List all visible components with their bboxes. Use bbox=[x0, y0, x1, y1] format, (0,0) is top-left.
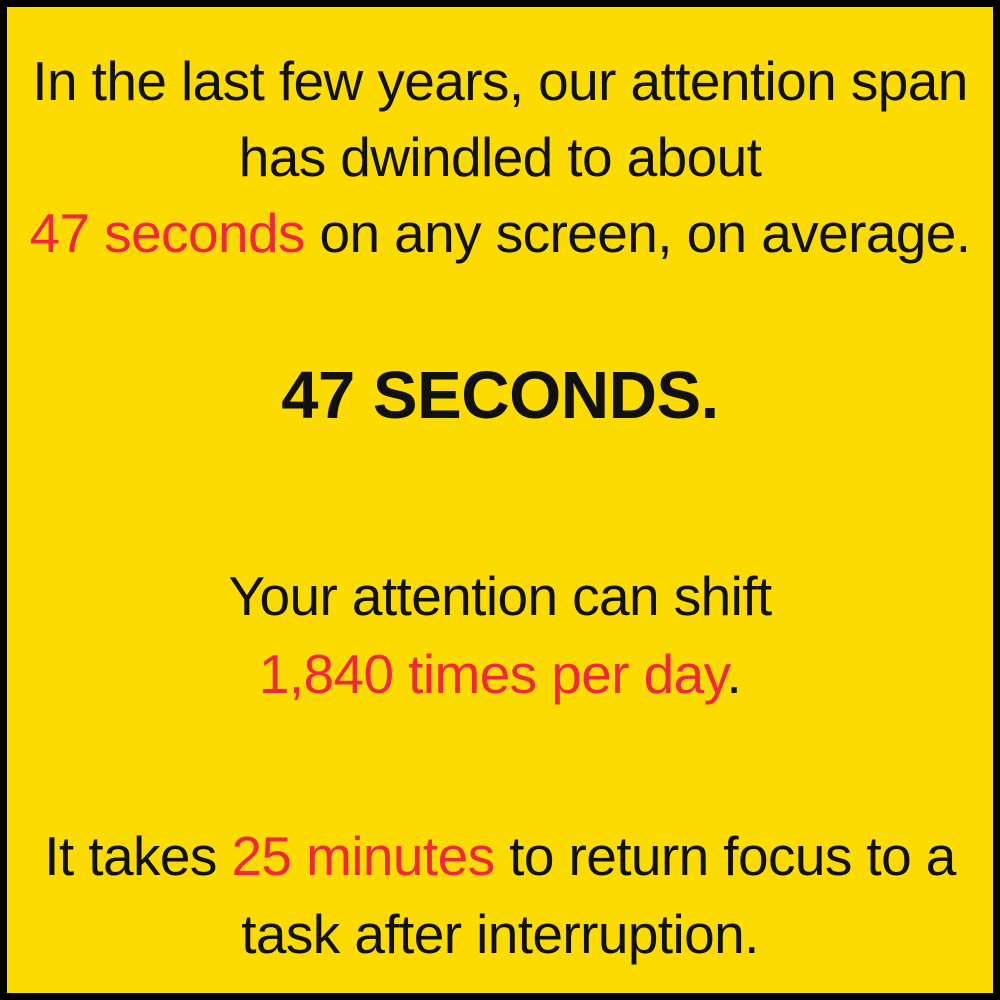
shift-line-2: 1,840 times per day. bbox=[23, 635, 977, 713]
intro-line-2: has dwindled to about bbox=[23, 119, 977, 195]
headline-text: 47 SECONDS. bbox=[23, 359, 977, 433]
intro-line-1: In the last few years, our attention spa… bbox=[23, 43, 977, 119]
refocus-line-2: task after interruption. bbox=[23, 895, 977, 973]
attention-shift-statistic: Your attention can shift 1,840 times per… bbox=[7, 557, 993, 713]
shift-highlight-1840-times: 1,840 times per day bbox=[259, 643, 727, 705]
refocus-line-1-pre: It takes bbox=[44, 825, 231, 887]
intro-highlight-47-seconds: 47 seconds bbox=[30, 202, 305, 264]
poster-frame: In the last few years, our attention spa… bbox=[0, 0, 1000, 1000]
intro-line-3: 47 seconds on any screen, on average. bbox=[23, 195, 977, 271]
shift-line-2-period: . bbox=[726, 643, 741, 705]
intro-statement: In the last few years, our attention spa… bbox=[7, 43, 993, 271]
intro-line-3-rest: on any screen, on average. bbox=[305, 202, 971, 264]
refocus-line-1-post: to return focus to a bbox=[494, 825, 955, 887]
poster-canvas: In the last few years, our attention spa… bbox=[7, 7, 993, 993]
headline-47-seconds: 47 SECONDS. bbox=[7, 359, 993, 433]
refocus-highlight-25-minutes: 25 minutes bbox=[231, 825, 494, 887]
refocus-statistic: It takes 25 minutes to return focus to a… bbox=[7, 817, 993, 973]
shift-line-1: Your attention can shift bbox=[23, 557, 977, 635]
refocus-line-1: It takes 25 minutes to return focus to a bbox=[23, 817, 977, 895]
